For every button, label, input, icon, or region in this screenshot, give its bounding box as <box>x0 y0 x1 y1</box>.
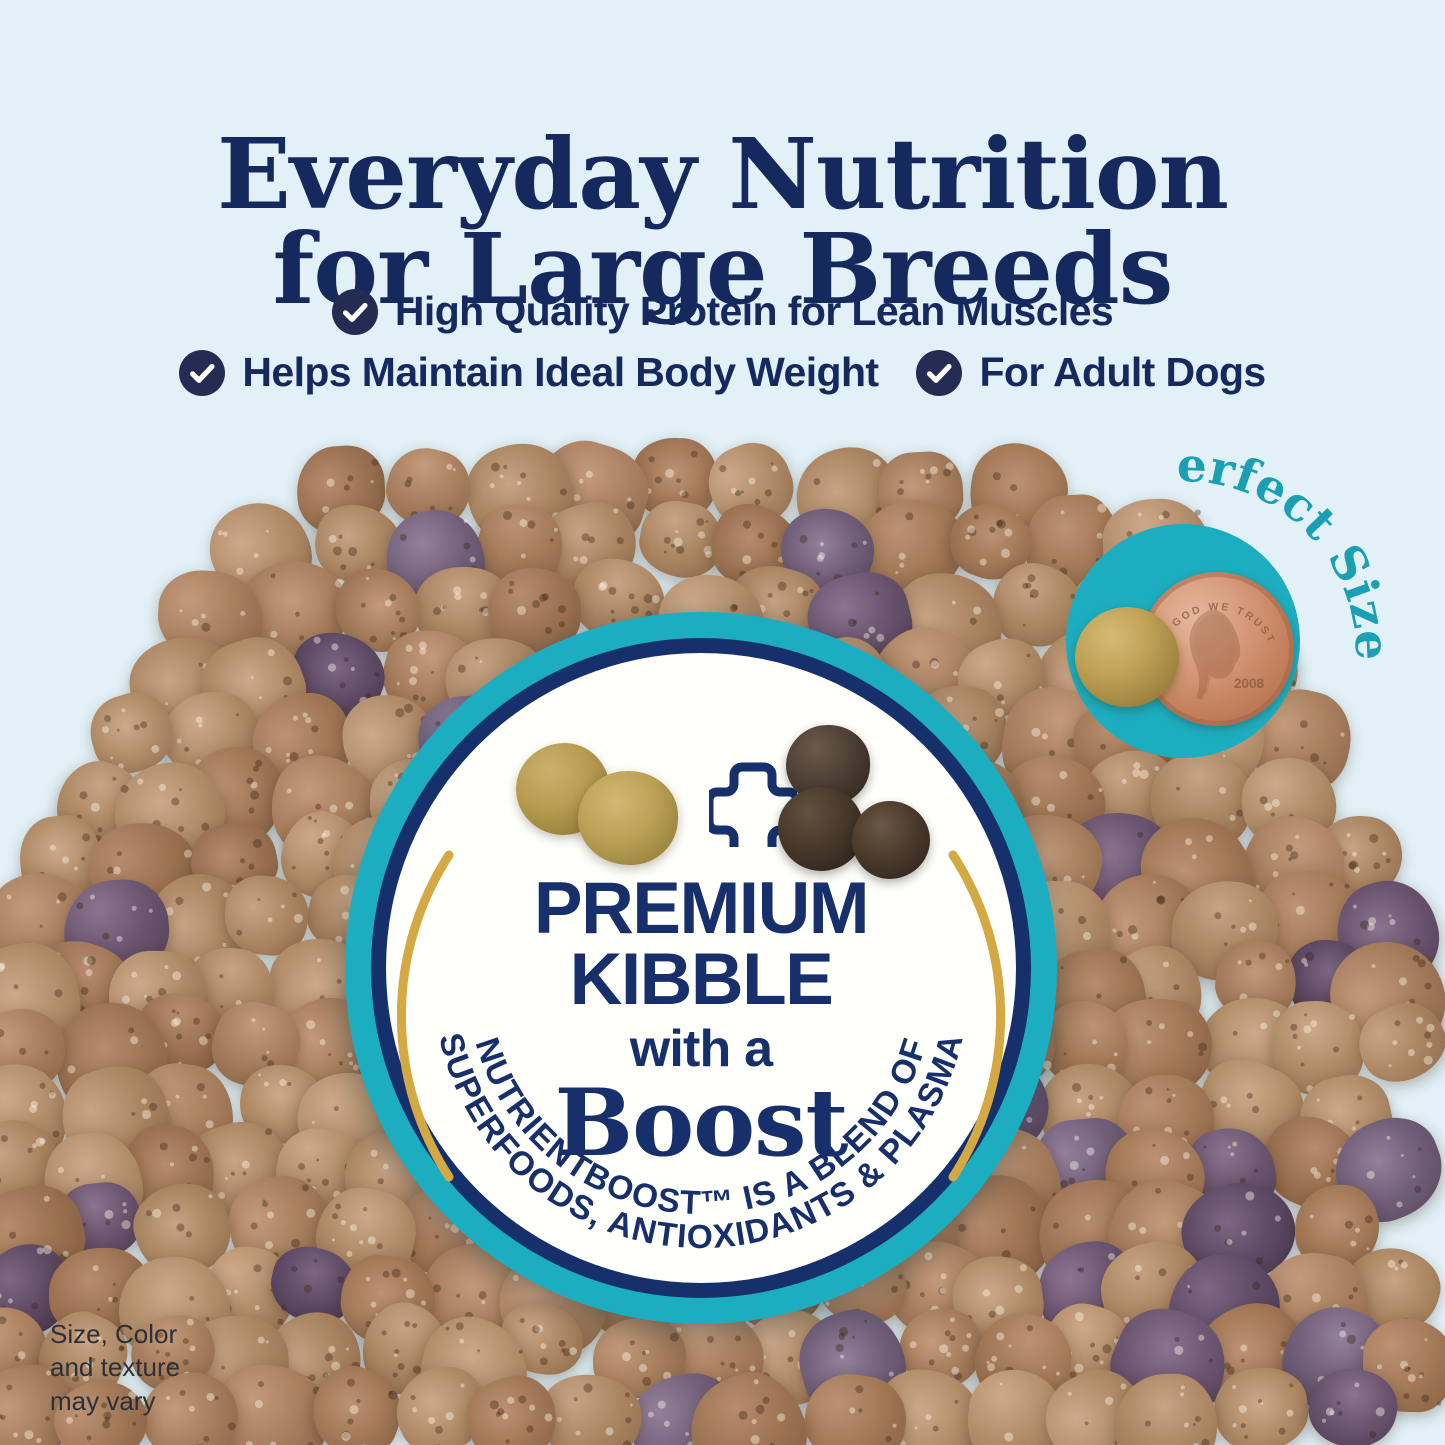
check-circle-icon <box>332 289 378 335</box>
svg-text:2008: 2008 <box>1234 676 1265 691</box>
badge-curved-tagline: SUPERFOODS, ANTIOXIDANTS & PLASMA NUTRIE… <box>345 612 1057 1324</box>
feature-bullet-list: High Quality Protein for Lean Muscles He… <box>0 288 1445 396</box>
bullet-item-adult-dogs: For Adult Dogs <box>916 349 1265 396</box>
disclaimer-line-3: may vary <box>50 1385 180 1418</box>
bullet-row-1: High Quality Protein for Lean Muscles <box>0 288 1445 335</box>
badge-white-field: PREMIUM KIBBLE with a Boost SUPERFOODS, … <box>386 653 1016 1283</box>
badge-navy-ring: PREMIUM KIBBLE with a Boost SUPERFOODS, … <box>371 638 1031 1298</box>
bullet-label: For Adult Dogs <box>979 349 1265 396</box>
check-circle-icon <box>916 350 962 396</box>
bullet-row-2: Helps Maintain Ideal Body Weight For Adu… <box>0 349 1445 396</box>
golden-kibble-icon <box>1075 607 1179 707</box>
disclaimer-line-1: Size, Color <box>50 1318 180 1351</box>
bullet-item-body-weight: Helps Maintain Ideal Body Weight <box>179 349 878 396</box>
bullet-label: High Quality Protein for Lean Muscles <box>395 288 1113 335</box>
product-marketing-image: Everyday Nutrition for Large Breeds High… <box>0 0 1445 1445</box>
bullet-item-protein: High Quality Protein for Lean Muscles <box>332 288 1113 335</box>
bullet-label: Helps Maintain Ideal Body Weight <box>242 349 878 396</box>
disclaimer-line-2: and texture <box>50 1351 180 1384</box>
check-circle-icon <box>179 350 225 396</box>
disclaimer-text: Size, Color and texture may vary <box>50 1318 180 1418</box>
premium-kibble-badge: PREMIUM KIBBLE with a Boost SUPERFOODS, … <box>345 612 1057 1324</box>
